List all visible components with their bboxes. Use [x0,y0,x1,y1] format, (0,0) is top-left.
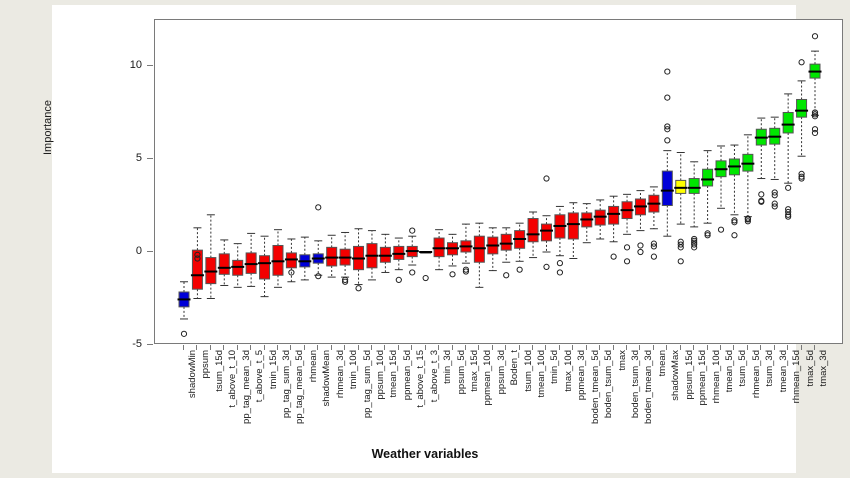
x-tick-label: ppsum_10d [375,350,386,400]
outlier-point [624,259,629,264]
boxplot-box [647,187,660,259]
x-tick-label: tsum_5d [737,350,748,386]
x-tick-mark [237,345,238,350]
y-tick-label: -5 [118,338,142,350]
boxplot-box [271,230,284,288]
x-tick-label: t_above_t_3 [429,350,440,402]
x-tick-label: ppmean_5d [402,350,413,400]
boxplot-box [674,152,687,263]
x-tick-label: rhmean_15d [791,350,802,403]
x-tick-mark [384,345,385,350]
x-tick-label: ppsum_5d [456,350,467,394]
y-tick-mark [147,65,153,66]
x-tick-label: pp_tag_sum_5d [362,350,373,418]
outlier-point [665,95,670,100]
boxplot-box [365,231,378,280]
x-tick-mark [505,345,506,350]
x-tick-mark [331,345,332,350]
x-tick-label: boden_tmean_3d [643,350,654,424]
boxplot-box [191,228,204,299]
x-tick-mark [371,345,372,350]
boxplot-box [486,228,499,271]
x-tick-mark [317,345,318,350]
outlier-point [181,331,186,336]
x-tick-mark [814,345,815,350]
x-tick-mark [559,345,560,350]
x-tick-mark [344,345,345,350]
x-tick-label: tmax_15d [469,350,480,392]
boxplot-box [446,234,459,277]
boxplot-box [285,239,298,282]
outlier-point [544,176,549,181]
plot-panel: Importance -50510 shadowMinppsumtsum_15d… [52,5,796,473]
outlier-point [638,249,643,254]
outlier-point [678,259,683,264]
outlier-point [611,254,616,259]
x-tick-mark [801,345,802,350]
boxplot-box [339,232,352,284]
x-tick-label: tmin_3d [442,350,453,384]
x-tick-mark [787,345,788,350]
x-tick-mark [452,345,453,350]
outlier-point [450,272,455,277]
x-tick-label: shadowMin [187,350,198,398]
x-tick-label: tsum_10d [523,350,534,392]
x-tick-mark [666,345,667,350]
x-tick-label: pp_tag_mean_3d [241,350,252,424]
x-tick-label: Boden_t [509,350,520,385]
x-tick-label: tmax_3d [818,350,829,386]
boxplot-box [459,224,472,274]
x-tick-mark [492,345,493,350]
boxplot-box [715,146,728,232]
x-tick-mark [358,345,359,350]
outlier-point [624,245,629,250]
x-tick-mark [545,345,546,350]
outlier-point [517,267,522,272]
boxplot-box [218,240,231,286]
outlier-point [786,185,791,190]
x-tick-label: tmin_15d [268,350,279,389]
boxplot-box [178,282,191,337]
boxplot-box [701,151,714,238]
x-tick-label: ppsum_3d [496,350,507,394]
x-tick-mark [747,345,748,350]
x-tick-mark [438,345,439,350]
x-tick-label: pp_tag_mean_5d [294,350,305,424]
x-tick-mark [264,345,265,350]
boxplot-box [204,215,217,299]
boxplot-box [231,244,244,288]
x-tick-mark [290,345,291,350]
boxplot-box [809,34,822,136]
x-tick-label: t_above_t_15 [415,350,426,408]
x-tick-mark [223,345,224,350]
x-tick-label: tmean_10d [536,350,547,398]
outlier-point [410,270,415,275]
plot-frame [154,19,843,344]
outlier-point [718,227,723,232]
boxplot-box [768,117,781,209]
outlier-point [356,286,361,291]
boxplot-box [782,94,795,219]
x-tick-label: tmean_3d [778,350,789,392]
x-tick-mark [572,345,573,350]
x-tick-mark [250,345,251,350]
outlier-point [544,264,549,269]
outlier-point [396,277,401,282]
boxplot-box [607,196,620,259]
x-tick-mark [465,345,466,350]
x-tick-label: boden_tmean_5d [590,350,601,424]
boxplot-box [433,230,446,270]
x-tick-label: shadowMax [670,350,681,401]
x-tick-label: boden_tsum_3d [630,350,641,418]
x-tick-mark [478,345,479,350]
boxplot-box [661,69,674,236]
outlier-point [812,34,817,39]
x-tick-label: tmin_10d [348,350,359,389]
outlier-point [557,270,562,275]
x-tick-label: pp_tag_sum_3d [281,350,292,418]
boxplot-box [406,228,419,275]
x-tick-mark [277,345,278,350]
outlier-point [504,273,509,278]
x-tick-mark [613,345,614,350]
x-tick-label: t_above_t_5 [254,350,265,402]
x-tick-label: tmean [657,350,668,376]
outlier-point [732,233,737,238]
y-axis-label: Importance [42,100,54,155]
x-tick-label: ppsum_15d [684,350,695,400]
figure-root: Importance -50510 shadowMinppsumtsum_15d… [0,0,850,478]
x-tick-label: tsum_3d [764,350,775,386]
boxplot-box [419,252,432,281]
y-tick-mark [147,158,153,159]
x-tick-label: tmax_10d [563,350,574,392]
x-tick-mark [599,345,600,350]
x-tick-mark [398,345,399,350]
x-tick-label: rhmean_10d [711,350,722,403]
x-tick-mark [720,345,721,350]
x-tick-label: tsum_15d [214,350,225,392]
x-tick-label: tmin_5d [549,350,560,384]
boxplot-box [527,212,540,258]
boxplot-box [553,206,566,275]
x-tick-label: boden_tsum_5d [603,350,614,418]
x-tick-mark [760,345,761,350]
outlier-point [799,60,804,65]
x-tick-label: ppmean_10d [482,350,493,405]
outlier-point [316,274,321,279]
outlier-point [638,243,643,248]
x-tick-mark [653,345,654,350]
x-tick-label: t_above_t_10 [227,350,238,408]
y-tick-label: 5 [118,152,142,164]
x-tick-mark [210,345,211,350]
boxplot-box [728,145,741,238]
boxplot-box [755,118,768,204]
boxplot-box [312,205,325,279]
outlier-point [316,205,321,210]
x-tick-mark [733,345,734,350]
x-tick-mark [304,345,305,350]
boxplot-box [540,176,553,270]
boxplot-box [379,234,392,272]
boxplot-box [258,236,271,296]
x-tick-mark [519,345,520,350]
outlier-point [665,138,670,143]
boxplot-box [567,203,580,259]
x-tick-label: tmax [617,350,628,371]
x-tick-mark [680,345,681,350]
boxplot-box [634,191,647,255]
boxplot-box [500,228,513,278]
x-tick-label: shadowMean [321,350,332,407]
x-tick-mark [693,345,694,350]
outlier-point [423,275,428,280]
x-tick-mark [183,345,184,350]
y-tick-mark [147,251,153,252]
x-tick-mark [586,345,587,350]
x-tick-label: ppmean_15d [697,350,708,405]
boxplot-box [325,235,338,277]
x-tick-mark [196,345,197,350]
outlier-point [410,228,415,233]
boxplot-box [580,204,593,243]
boxplot-box [473,223,486,287]
x-tick-label: tmean_5d [724,350,735,392]
outlier-point [812,127,817,132]
boxplot-box [688,162,701,250]
boxplot-box [594,200,607,239]
x-tick-mark [411,345,412,350]
x-tick-mark [707,345,708,350]
boxplot-box [513,223,526,272]
outlier-point [759,192,764,197]
boxplot-box [392,238,405,282]
boxplot-box [298,237,311,280]
boxplot-box [245,233,258,286]
x-tick-mark [425,345,426,350]
x-axis-label: Weather variables [0,447,850,461]
outlier-point [651,254,656,259]
boxplot-box [795,60,808,181]
outlier-point [665,69,670,74]
x-tick-mark [532,345,533,350]
x-tick-label: rhmean_3d [335,350,346,398]
x-tick-label: rhmean_5d [751,350,762,398]
x-tick-label: tmean_15d [388,350,399,398]
x-tick-mark [774,345,775,350]
boxplot-box [621,194,634,264]
y-tick-mark [147,344,153,345]
x-tick-mark [626,345,627,350]
outlier-point [557,261,562,266]
x-tick-label: ppsum [200,350,211,379]
y-tick-label: 10 [118,59,142,71]
x-tick-mark [639,345,640,350]
x-tick-label: tmax_5d [805,350,816,386]
x-tick-label: ppmean_3d [576,350,587,400]
x-tick-label: rhmean [308,350,319,382]
boxplot-canvas [155,20,844,345]
boxplot-box [352,229,365,291]
y-tick-label: 0 [118,245,142,257]
boxplot-box [741,135,754,224]
